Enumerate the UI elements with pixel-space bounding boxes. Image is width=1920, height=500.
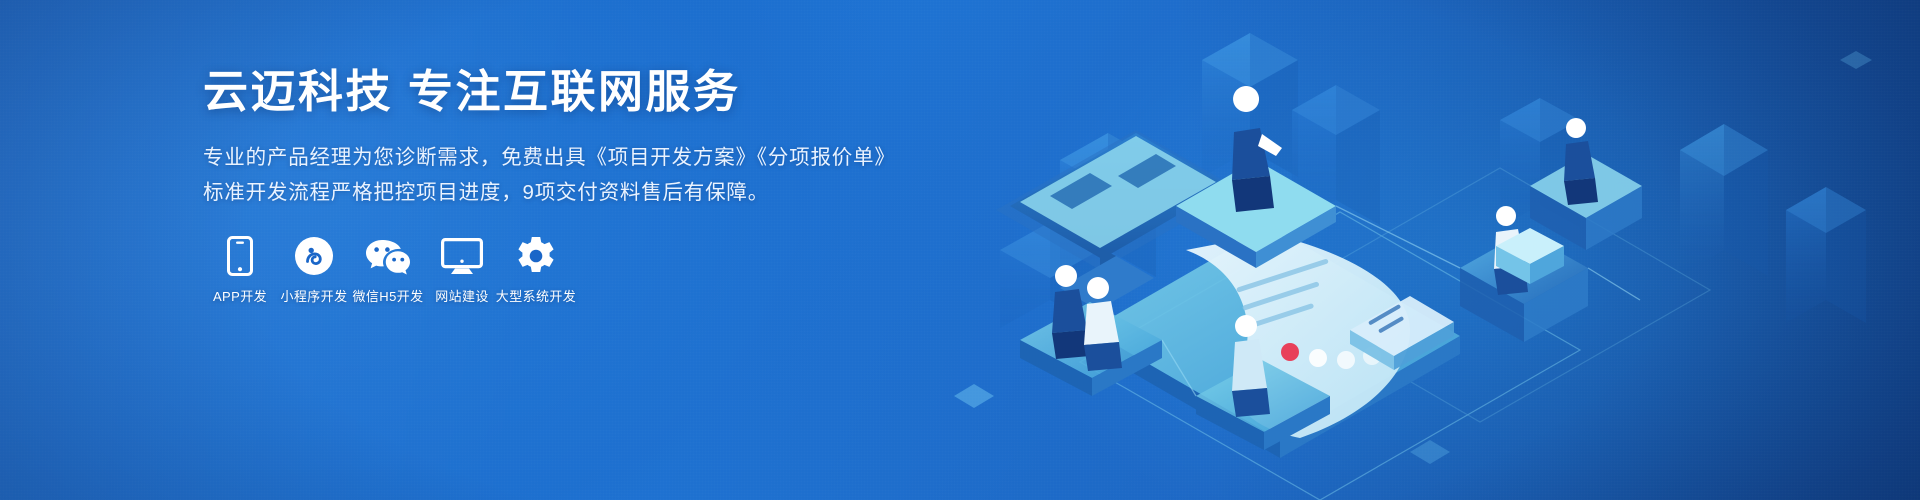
service-item-wechat-h5[interactable]: 微信H5开发 [351, 232, 425, 305]
service-item-large-system[interactable]: 大型系统开发 [499, 232, 573, 305]
hero-banner: 云迈科技 专注互联网服务 专业的产品经理为您诊断需求，免费出具《项目开发方案》《… [0, 0, 1920, 500]
subtitle-line-1: 专业的产品经理为您诊断需求，免费出具《项目开发方案》《分项报价单》 [203, 140, 963, 175]
service-item-app[interactable]: APP开发 [203, 232, 277, 305]
hero-copy: 云迈科技 专注互联网服务 专业的产品经理为您诊断需求，免费出具《项目开发方案》《… [203, 66, 963, 210]
person-bottom-center [1232, 315, 1270, 417]
monitor-icon [441, 232, 483, 276]
hero-subtitle: 专业的产品经理为您诊断需求，免费出具《项目开发方案》《分项报价单》 标准开发流程… [203, 140, 963, 210]
person-bottom-left-a [1052, 265, 1090, 359]
subtitle-line-2: 标准开发流程严格把控项目进度，9项交付资料售后有保障。 [203, 175, 963, 210]
mini-program-icon [294, 232, 334, 276]
service-label: 网站建设 [435, 286, 489, 305]
service-label: 微信H5开发 [352, 286, 423, 305]
service-label: 大型系统开发 [496, 286, 576, 305]
wechat-icon [365, 232, 411, 276]
person-right-lower [1494, 206, 1528, 295]
person-right-upper [1564, 118, 1598, 205]
gear-icon [516, 232, 556, 276]
page-title: 云迈科技 专注互联网服务 [203, 66, 963, 118]
service-label: APP开发 [213, 286, 267, 305]
hero-illustration [940, 0, 1920, 500]
service-label: 小程序开发 [280, 286, 347, 305]
person-bottom-left-b [1084, 277, 1122, 371]
service-item-mini-program[interactable]: 小程序开发 [277, 232, 351, 305]
service-list: APP开发 小程序开发 [203, 232, 573, 305]
mobile-phone-icon [227, 232, 253, 276]
person-main [1232, 86, 1282, 212]
service-item-website[interactable]: 网站建设 [425, 232, 499, 305]
